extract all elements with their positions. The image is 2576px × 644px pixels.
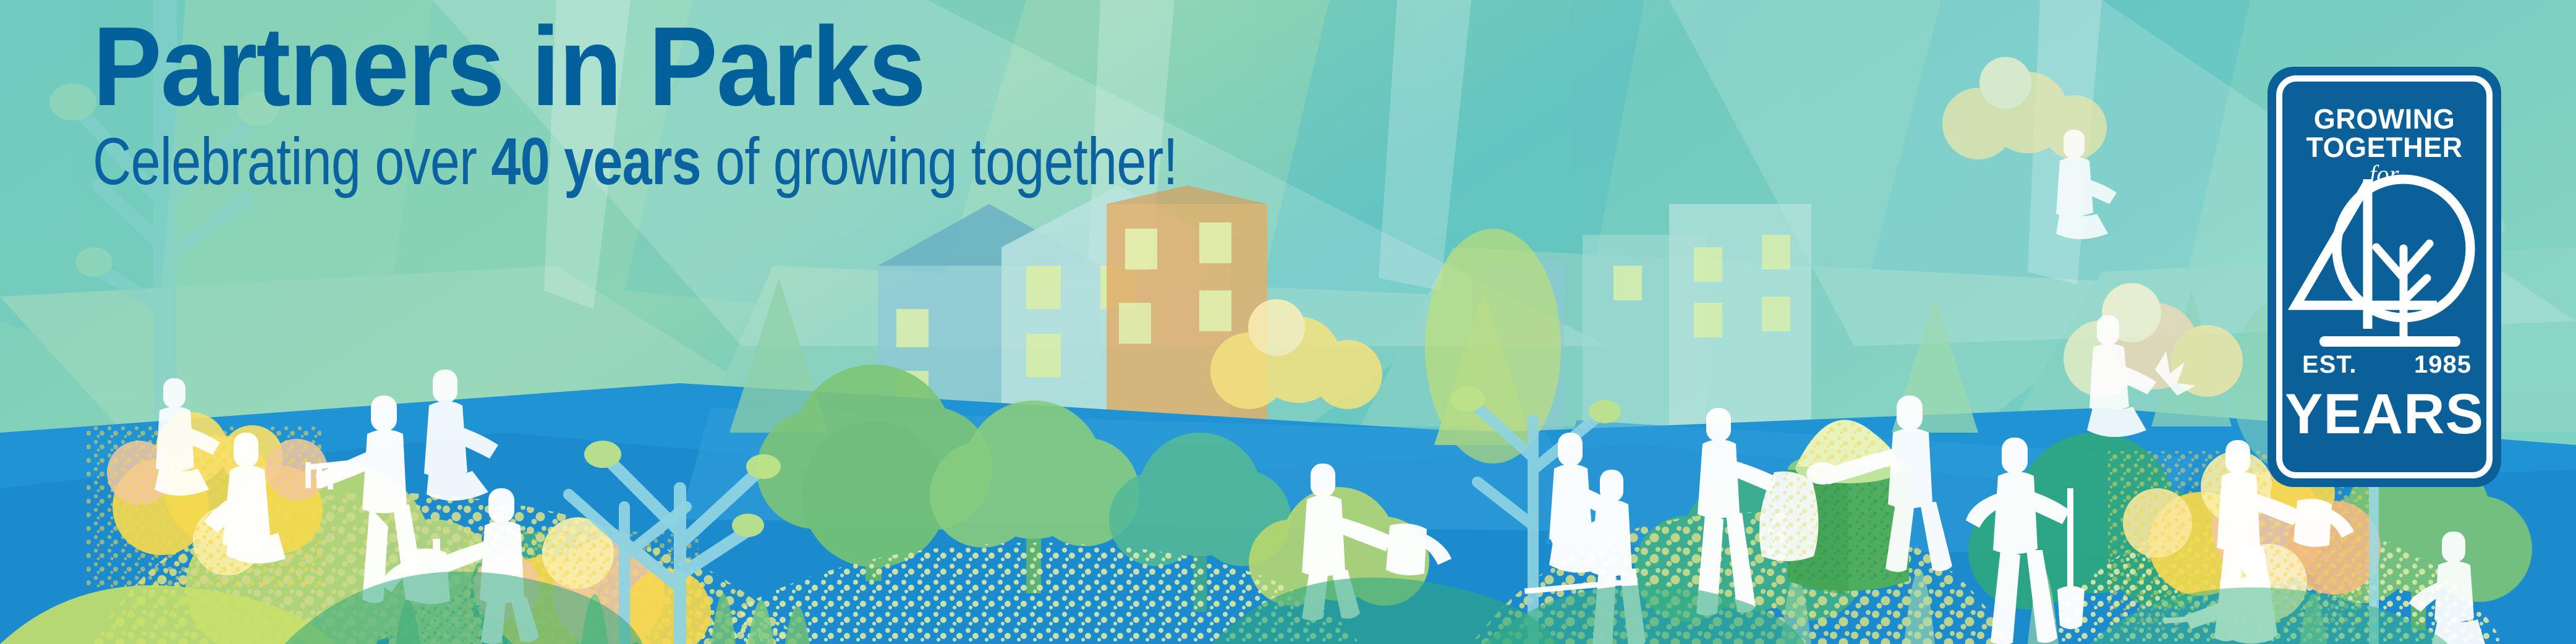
logo-line-together: TOGETHER: [2282, 133, 2486, 161]
logo-content: GROWING TOGETHER for EST. 1985 YEARS: [2282, 82, 2486, 472]
logo-est-label: EST.: [2302, 351, 2357, 379]
growing-together-40-years-logo: GROWING TOGETHER for EST. 1985 YEARS: [2268, 67, 2501, 487]
logo-line-growing: GROWING: [2282, 105, 2486, 133]
partners-in-parks-banner: Partners in Parks Celebrating over 40 ye…: [0, 0, 2576, 644]
title-block: Partners in Parks Celebrating over 40 ye…: [93, 14, 1448, 195]
logo-est-year: 1985: [2414, 351, 2472, 379]
subtitle-before: Celebrating over: [93, 124, 491, 198]
subtitle-highlight: 40 years: [491, 124, 701, 198]
page-title: Partners in Parks: [93, 14, 1340, 119]
logo-years-label: YEARS: [2282, 386, 2486, 443]
subtitle-after: of growing together!: [701, 124, 1178, 198]
subtitle: Celebrating over 40 years of growing tog…: [93, 128, 1178, 195]
logo-40-tree-mark: [2282, 174, 2486, 378]
